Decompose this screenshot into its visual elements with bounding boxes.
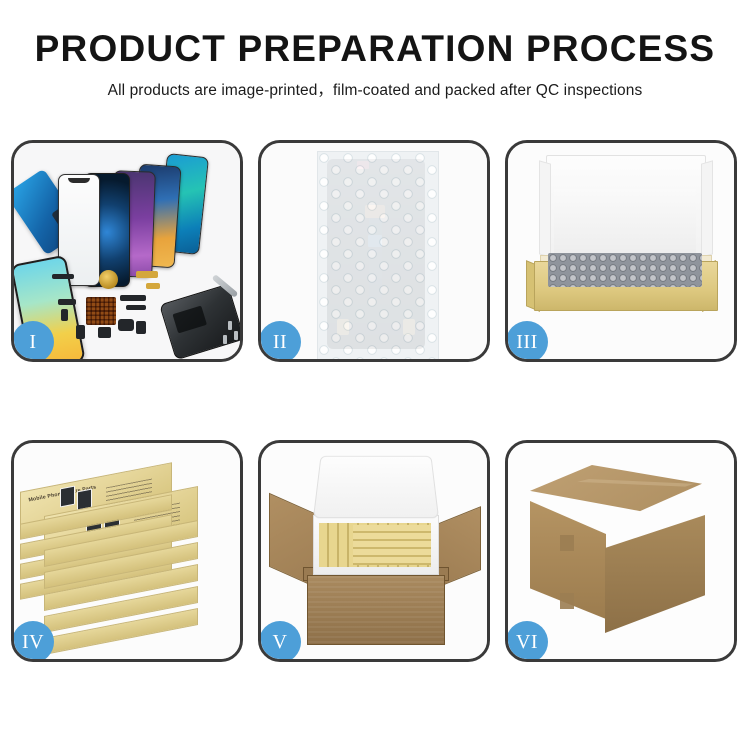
flex-cable-dark-1 — [120, 295, 146, 301]
flex-cable-gold-2 — [146, 283, 160, 289]
process-step-3: III — [505, 140, 737, 362]
process-step-4: Mobile Phone Spare Parts Mobile Phone Sp… — [11, 440, 243, 662]
earpiece-mesh-icon — [52, 274, 74, 279]
camera-module-icon — [118, 319, 134, 331]
bubble-wrap-bag — [317, 151, 439, 359]
step-badge-2: II — [259, 321, 301, 362]
carton-hand-hole-top — [560, 535, 574, 551]
screw-icon-1 — [228, 321, 232, 330]
sim-tray-icon — [76, 325, 85, 339]
step-badge-1: I — [12, 321, 54, 362]
sealed-carton-right-face — [605, 515, 705, 633]
bubble-wrapped-contents — [548, 253, 702, 287]
page-subtitle: All products are image-printed，film-coat… — [0, 78, 750, 100]
step-badge-4: IV — [12, 621, 54, 662]
screw-icon-3 — [223, 335, 227, 344]
step-badge-3: III — [506, 321, 548, 362]
carton-front-panel — [307, 575, 445, 645]
process-steps-grid: I II — [11, 140, 737, 740]
screw-icon-2 — [234, 331, 238, 340]
retail-box-screen-thumb-1 — [60, 486, 75, 508]
copper-mesh-icon — [86, 297, 116, 325]
step-badge-6: VI — [506, 621, 548, 662]
process-step-1: I — [11, 140, 243, 362]
process-step-2: II — [258, 140, 490, 362]
connector-2 — [61, 309, 68, 321]
inner-box-foam-liner — [554, 189, 696, 263]
product-preparation-process-page: PRODUCT PREPARATION PROCESS All products… — [0, 0, 750, 750]
process-step-5: V — [258, 440, 490, 662]
carton-hand-hole-bottom — [560, 593, 574, 609]
battery-connector-icon — [136, 321, 146, 334]
connector-1 — [58, 299, 76, 305]
page-header: PRODUCT PREPARATION PROCESS All products… — [0, 0, 750, 100]
page-title: PRODUCT PREPARATION PROCESS — [0, 30, 750, 69]
process-step-6: VI — [505, 440, 737, 662]
step-badge-5: V — [259, 621, 301, 662]
foam-lid — [313, 456, 439, 518]
speaker-module-icon — [98, 327, 111, 338]
flex-cable-gold-1 — [136, 271, 158, 278]
packed-retail-boxes-stack — [353, 525, 431, 565]
vibration-coil-icon — [99, 270, 118, 289]
flex-cable-dark-2 — [126, 305, 146, 310]
